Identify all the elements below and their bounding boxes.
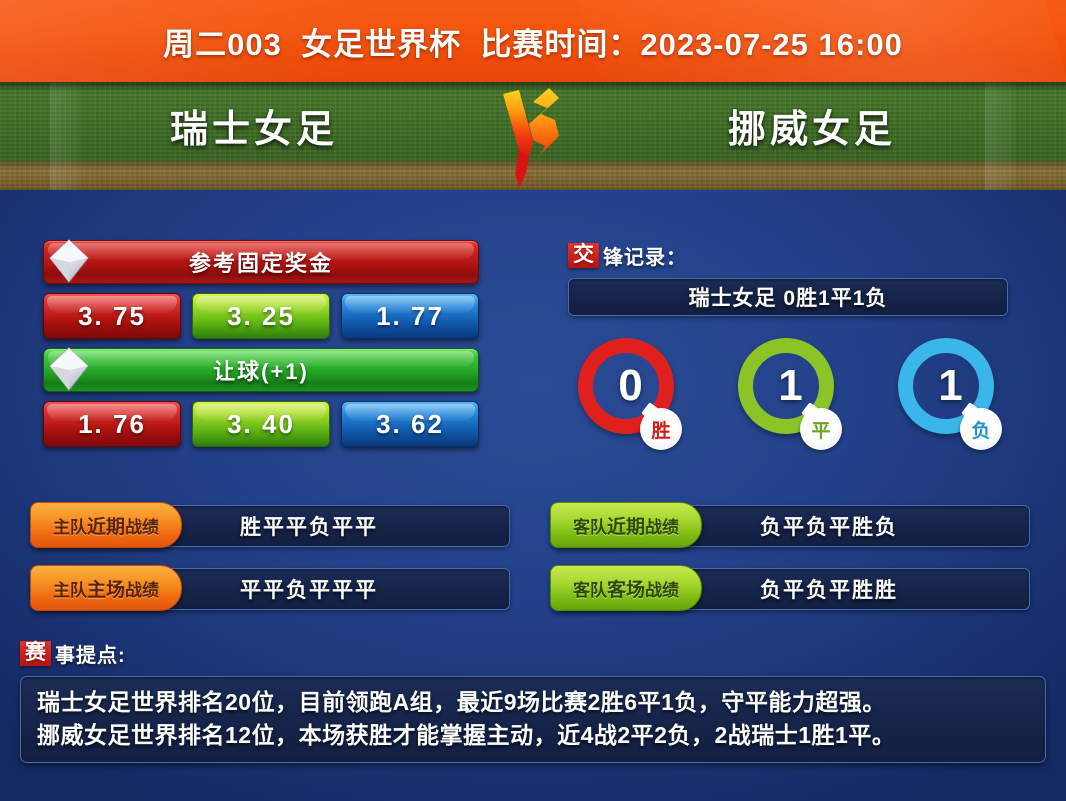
odds-value: 3. 75 xyxy=(78,301,146,332)
h2h-tag-label: 锋记录： xyxy=(603,241,687,270)
odds-value: 1. 77 xyxy=(376,301,444,332)
analysis-box: 瑞士女足世界排名20位，目前领跑A组，最近9场比赛2胜6平1负，守平能力超强。 … xyxy=(20,676,1046,763)
analysis-line-2: 挪威女足世界排名12位，本场获胜才能掌握主动，近4战2平2负，2战瑞士1胜1平。 xyxy=(37,719,1029,752)
ring-badge-label: 平 xyxy=(811,416,830,443)
record-row-home-recent: 胜平平负平平 主队近期战绩 xyxy=(38,505,508,545)
tab-prefix: 主队 xyxy=(53,576,87,601)
header-bar: 周二003 女足世界杯 比赛时间：2023-07-25 16:00 xyxy=(0,0,1066,82)
h2h-summary-text: 瑞士女足 0胜1平1负 xyxy=(689,282,888,312)
tab-prefix: 客队 xyxy=(573,576,607,601)
tab-suffix: 战绩 xyxy=(125,576,159,601)
odds-value: 3. 40 xyxy=(227,409,295,440)
h2h-rings: 0 胜 1 平 1 负 xyxy=(568,338,1008,450)
analysis-section-title: 赛 事提点: xyxy=(20,638,1046,668)
record-tab-home-venue: 主队主场战绩 xyxy=(30,565,182,611)
odds-value: 3. 25 xyxy=(227,301,295,332)
tab-strong: 客场 xyxy=(607,575,645,602)
teams-banner: 瑞士女足 挪威女足 xyxy=(0,82,1066,190)
odds-button-home-win[interactable]: 3. 75 xyxy=(43,293,181,339)
h2h-tag-box: 交 xyxy=(568,243,599,268)
diamond-icon xyxy=(40,340,98,398)
match-preview-page: 周二003 女足世界杯 比赛时间：2023-07-25 16:00 瑞士女足 挪… xyxy=(0,0,1066,801)
tab-prefix: 客队 xyxy=(573,513,607,538)
ring-badge-win: 胜 xyxy=(640,408,682,450)
diamond-icon xyxy=(40,232,98,290)
record-tab-away-venue: 客队客场战绩 xyxy=(550,565,702,611)
h2h-ring-draw: 1 平 xyxy=(734,338,842,450)
odds-value: 3. 62 xyxy=(376,409,444,440)
fixed-odds-row: 3. 75 3. 25 1. 77 xyxy=(43,293,479,339)
analysis-section: 赛 事提点: 瑞士女足世界排名20位，目前领跑A组，最近9场比赛2胜6平1负，守… xyxy=(20,638,1046,763)
tab-suffix: 战绩 xyxy=(645,576,679,601)
tab-prefix: 主队 xyxy=(53,513,87,538)
tab-strong: 近期 xyxy=(607,512,645,539)
record-value: 负平负平胜胜 xyxy=(690,574,898,604)
handicap-odds-header-label: 让球(+1) xyxy=(213,354,309,386)
ring-badge-draw: 平 xyxy=(800,408,842,450)
record-tab-home-recent: 主队近期战绩 xyxy=(30,502,182,548)
handicap-button-draw[interactable]: 3. 40 xyxy=(192,401,330,447)
odds-button-away-win[interactable]: 1. 77 xyxy=(341,293,479,339)
handicap-odds-header: 让球(+1) xyxy=(43,348,479,392)
head-to-head-panel: 交 锋记录： 瑞士女足 0胜1平1负 0 胜 1 平 xyxy=(568,240,1008,450)
record-tab-away-recent: 客队近期战绩 xyxy=(550,502,702,548)
header-title: 周二003 女足世界杯 比赛时间：2023-07-25 16:00 xyxy=(163,19,903,64)
vs-icon xyxy=(489,82,579,190)
record-value: 平平负平平平 xyxy=(170,574,378,604)
handicap-odds-row: 1. 76 3. 40 3. 62 xyxy=(43,401,479,447)
fixed-odds-header: 参考固定奖金 xyxy=(43,240,479,284)
ring-badge-label: 负 xyxy=(971,416,990,443)
tab-suffix: 战绩 xyxy=(645,513,679,538)
handicap-button-home-win[interactable]: 1. 76 xyxy=(43,401,181,447)
h2h-summary-bar: 瑞士女足 0胜1平1负 xyxy=(568,278,1008,316)
ring-badge-label: 胜 xyxy=(651,416,670,443)
odds-button-draw[interactable]: 3. 25 xyxy=(192,293,330,339)
record-row-away-recent: 负平负平胜负 客队近期战绩 xyxy=(558,505,1028,545)
analysis-line-1: 瑞士女足世界排名20位，目前领跑A组，最近9场比赛2胜6平1负，守平能力超强。 xyxy=(37,686,1029,719)
record-value: 胜平平负平平 xyxy=(170,511,378,541)
handicap-button-away-win[interactable]: 3. 62 xyxy=(341,401,479,447)
fixed-odds-header-label: 参考固定奖金 xyxy=(189,246,333,278)
record-row-home-venue: 平平负平平平 主队主场战绩 xyxy=(38,568,508,608)
away-team-name: 挪威女足 xyxy=(602,98,1022,153)
home-team-name: 瑞士女足 xyxy=(44,98,464,153)
tab-strong: 近期 xyxy=(87,512,125,539)
h2h-section-title: 交 锋记录： xyxy=(568,240,1008,270)
odds-value: 1. 76 xyxy=(78,409,146,440)
analysis-tag-label: 事提点: xyxy=(55,639,126,668)
record-value: 负平负平胜负 xyxy=(690,511,898,541)
ring-badge-lose: 负 xyxy=(960,408,1002,450)
tab-strong: 主场 xyxy=(87,575,125,602)
analysis-tag-box: 赛 xyxy=(20,641,51,666)
h2h-ring-lose: 1 负 xyxy=(894,338,1002,450)
tab-suffix: 战绩 xyxy=(125,513,159,538)
h2h-ring-win: 0 胜 xyxy=(574,338,682,450)
record-row-away-venue: 负平负平胜胜 客队客场战绩 xyxy=(558,568,1028,608)
odds-panel: 参考固定奖金 3. 75 3. 25 1. 77 让球(+1) xyxy=(43,240,479,456)
